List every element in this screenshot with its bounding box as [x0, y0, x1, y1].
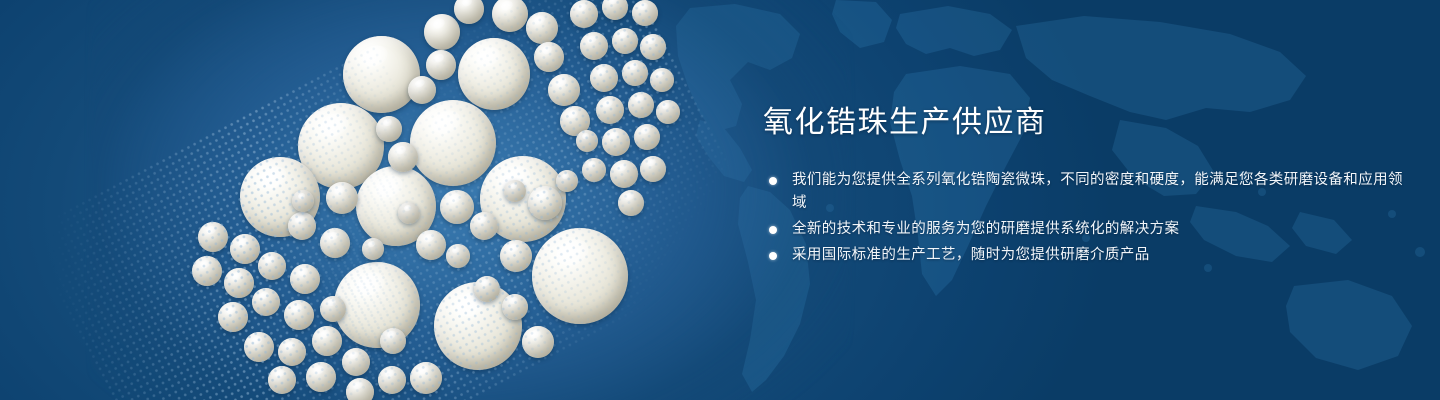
page-title: 氧化锆珠生产供应商 [763, 104, 1403, 142]
list-item-text: 我们能为您提供全系列氧化锆陶瓷微珠，不同的密度和硬度，能满足您各类研磨设备和应用… [792, 172, 1403, 211]
list-item-text: 采用国际标准的生产工艺，随时为您提供研磨介质产品 [792, 247, 1150, 263]
bullet-dot-icon [769, 177, 777, 185]
banner-copy: 氧化锆珠生产供应商 我们能为您提供全系列氧化锆陶瓷微珠，不同的密度和硬度，能满足… [763, 104, 1403, 270]
list-item-text: 全新的技术和专业的服务为您的研磨提供系统化的解决方案 [792, 221, 1179, 237]
list-item: 采用国际标准的生产工艺，随时为您提供研磨介质产品 [763, 244, 1403, 267]
bullet-dot-icon [769, 226, 777, 234]
list-item: 我们能为您提供全系列氧化锆陶瓷微珠，不同的密度和硬度，能满足您各类研磨设备和应用… [763, 169, 1403, 215]
hero-banner: 氧化锆珠生产供应商 我们能为您提供全系列氧化锆陶瓷微珠，不同的密度和硬度，能满足… [0, 0, 1440, 400]
zirconia-bead-cluster-image [140, 0, 720, 400]
list-item: 全新的技术和专业的服务为您的研磨提供系统化的解决方案 [763, 218, 1403, 241]
feature-list: 我们能为您提供全系列氧化锆陶瓷微珠，不同的密度和硬度，能满足您各类研磨设备和应用… [763, 169, 1403, 267]
bullet-dot-icon [769, 252, 777, 260]
